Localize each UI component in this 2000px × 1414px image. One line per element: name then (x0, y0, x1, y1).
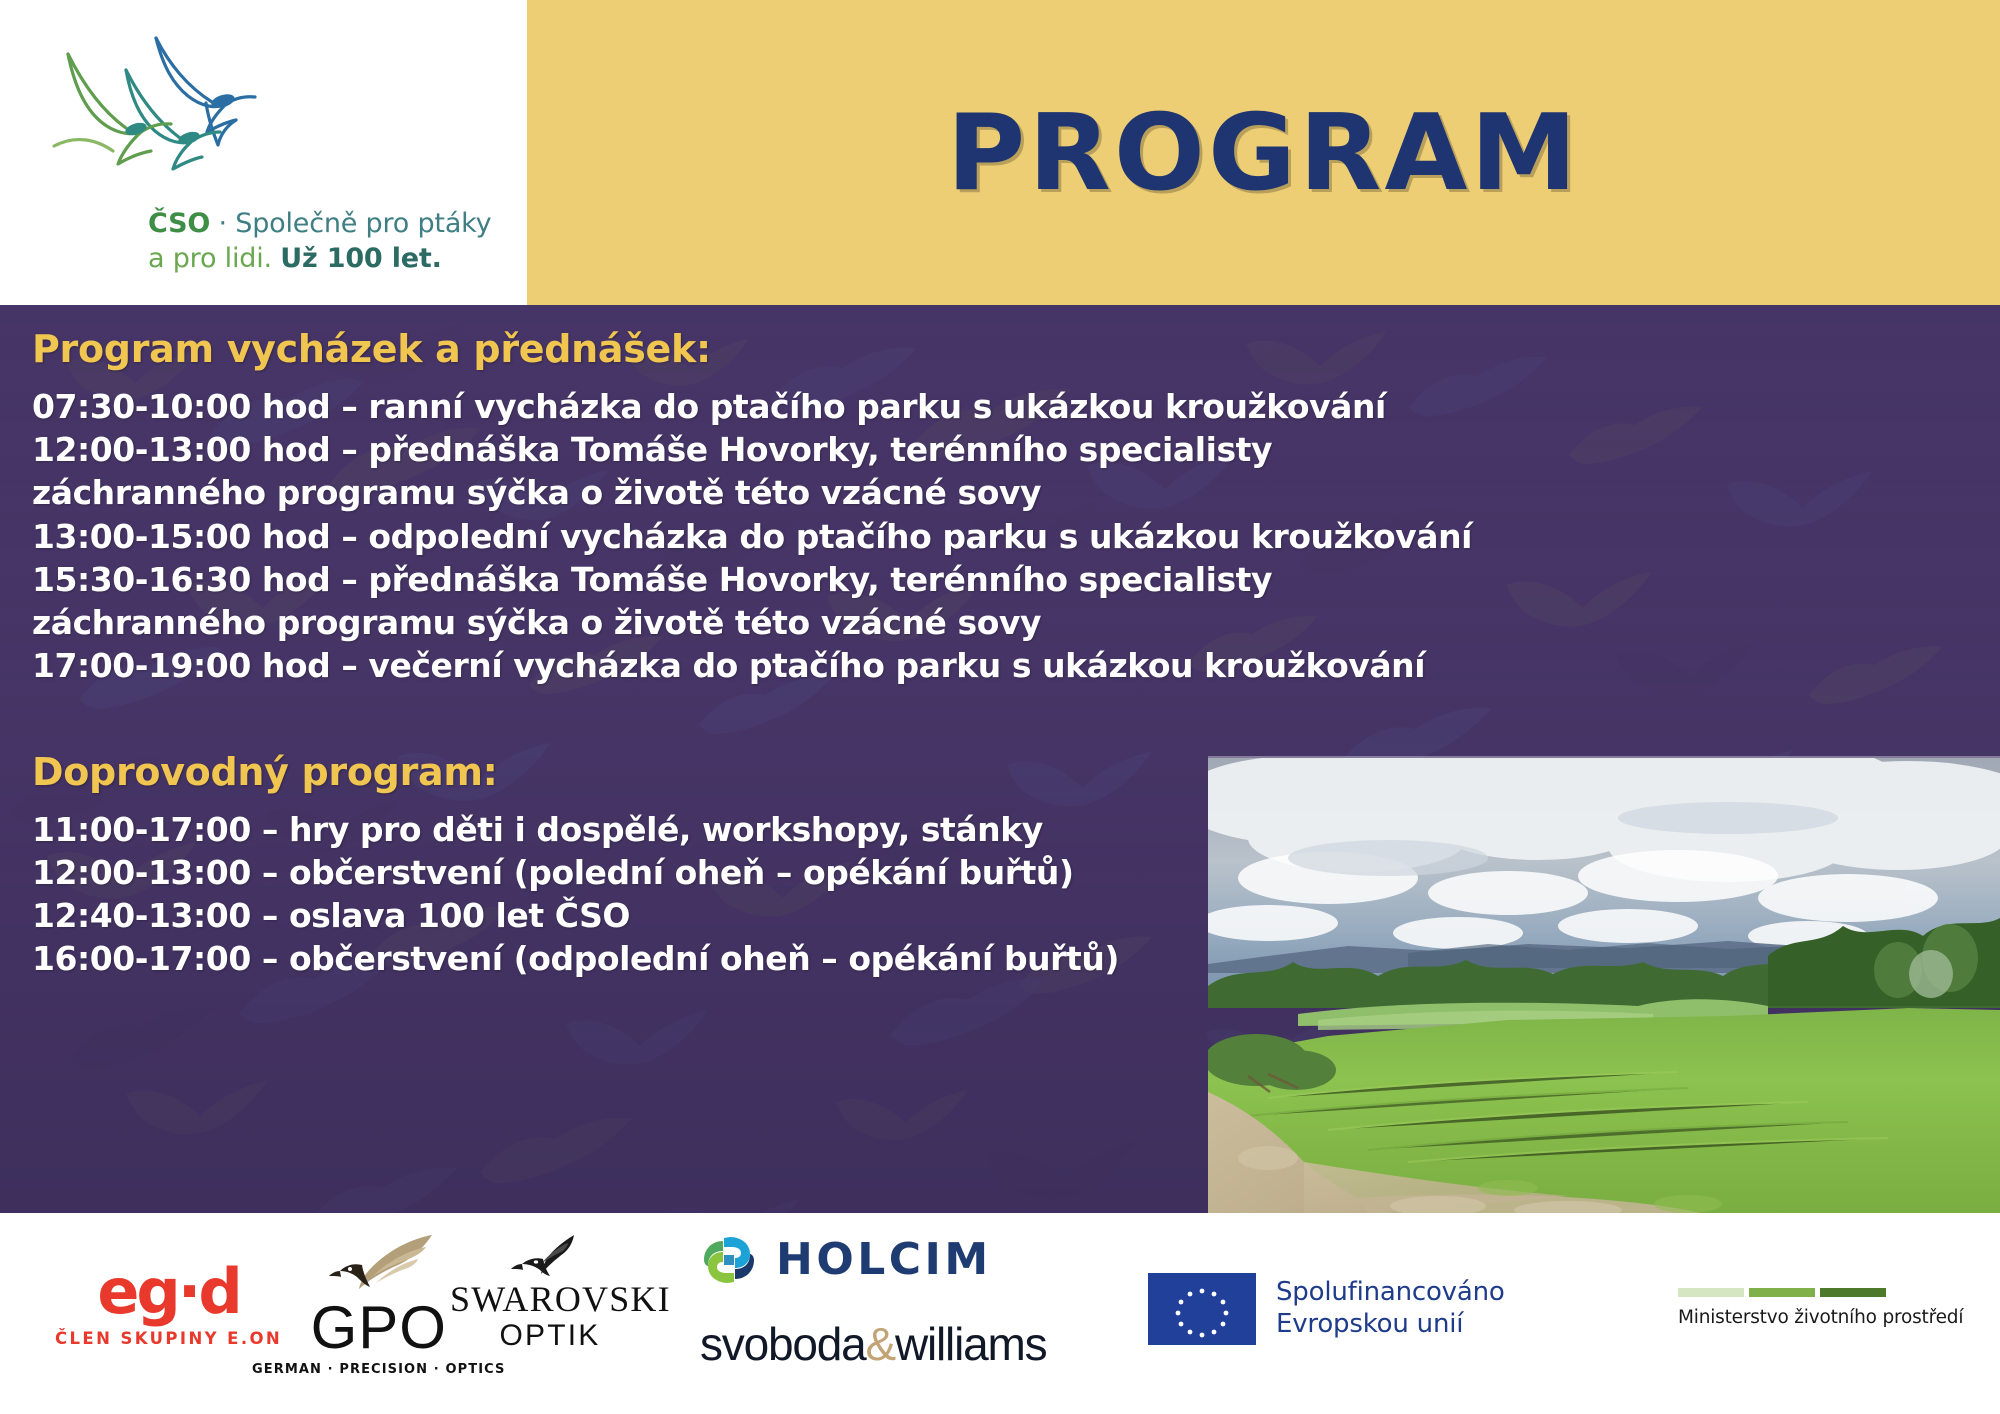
program-item: 07:30-10:00 hod – ranní vycházka do ptač… (32, 385, 1452, 428)
sponsor-footer: eg·d ČLEN SKUPINY E.ON GPO GERMAN · PREC… (0, 1213, 2000, 1414)
holcim-logo[interactable]: HOLCIM (700, 1231, 992, 1289)
eu-cofinancing-logo[interactable]: Spolufinancováno Evropskou unií (1148, 1273, 1505, 1345)
bird-park-meadow-photo (1208, 756, 2000, 1213)
logo-anniversary-text: Už 100 let. (280, 243, 441, 274)
section-walks-lectures: Program vycházek a přednášek: 07:30-10:0… (32, 327, 1452, 688)
page-title-text: PROGRAM (947, 92, 1580, 214)
svoboda-text: svoboda (700, 1318, 866, 1370)
eagle-icon (510, 1233, 590, 1279)
swarovski-logo-subtitle: OPTIK (450, 1319, 650, 1352)
logo-panel: ČSO · Společně pro ptáky a pro lidi. Už … (0, 0, 527, 305)
eu-flag-icon (1148, 1273, 1256, 1345)
eagle-wing-icon (314, 1231, 444, 1293)
egd-logo-subtitle: ČLEN SKUPINY E.ON (55, 1329, 282, 1348)
swarovski-optik-logo[interactable]: SWAROVSKI OPTIK (450, 1233, 650, 1352)
ministry-bars-icon (1678, 1288, 1963, 1297)
swarovski-logo-wordmark: SWAROVSKI (450, 1281, 650, 1319)
egd-logo-wordmark: eg·d (55, 1261, 282, 1323)
eu-logo-line1: Spolufinancováno (1276, 1277, 1505, 1309)
section-spacer (32, 688, 1452, 750)
logo-tagline-line2: a pro lidi. (148, 243, 280, 274)
ministry-logo-wordmark: Ministerstvo životního prostředí (1678, 1307, 1963, 1328)
holcim-logo-wordmark: HOLCIM (776, 1238, 992, 1282)
logo-cso-text: ČSO (148, 208, 210, 239)
ampersand-icon: & (866, 1318, 895, 1370)
poster-header: ČSO · Společně pro ptáky a pro lidi. Už … (0, 0, 2000, 305)
section-heading-walks: Program vycházek a přednášek: (32, 327, 1452, 371)
cso-birds-icon (30, 8, 370, 198)
gpo-logo-subtitle: GERMAN · PRECISION · OPTICS (252, 1362, 505, 1377)
program-item: 12:00-13:00 hod – přednáška Tomáše Hovor… (32, 428, 1452, 514)
egd-logo[interactable]: eg·d ČLEN SKUPINY E.ON (55, 1261, 282, 1348)
page-title: PROGRAM (527, 0, 2000, 305)
williams-text: williams (895, 1318, 1046, 1370)
svoboda-williams-logo[interactable]: svoboda&williams (700, 1321, 1046, 1367)
holcim-mark-icon (700, 1231, 758, 1289)
program-item: 13:00-15:00 hod – odpolední vycházka do … (32, 515, 1452, 558)
logo-tagline-line1: Společně pro ptáky (235, 208, 491, 239)
logo-tagline: ČSO · Společně pro ptáky a pro lidi. Už … (148, 206, 528, 276)
logo-separator: · (210, 208, 235, 239)
ministry-environment-logo[interactable]: Ministerstvo životního prostředí (1678, 1288, 1963, 1328)
program-poster: ČSO · Společně pro ptáky a pro lidi. Už … (0, 0, 2000, 1414)
program-item: 15:30-16:30 hod – přednáška Tomáše Hovor… (32, 558, 1452, 644)
program-body: Program vycházek a přednášek: 07:30-10:0… (0, 305, 2000, 1213)
program-item: 17:00-19:00 hod – večerní vycházka do pt… (32, 644, 1452, 687)
sponsor-logo-row: eg·d ČLEN SKUPINY E.ON GPO GERMAN · PREC… (0, 1213, 2000, 1414)
eu-logo-line2: Evropskou unií (1276, 1309, 1505, 1341)
